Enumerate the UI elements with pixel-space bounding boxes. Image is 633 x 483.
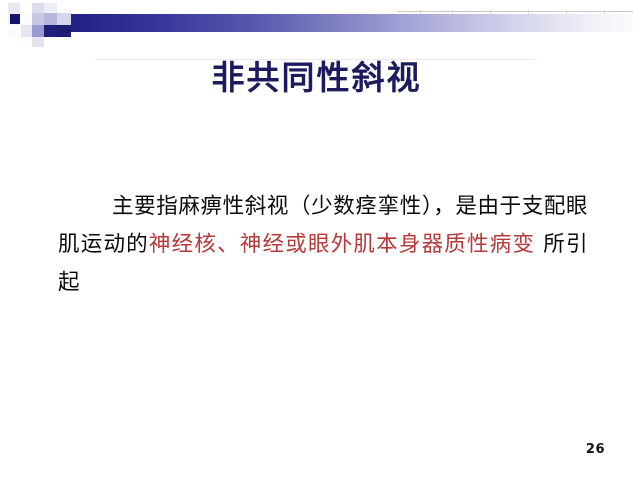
body-block: 主要指麻痹性斜视（少数痉挛性），是由于支配眼肌运动的神经核、神经或眼外肌本身器质… (58, 188, 588, 302)
mosaic-square (32, 3, 44, 13)
page-title: 非共同性斜视 (0, 55, 633, 101)
slide-canvas: 非共同性斜视 主要指麻痹性斜视（少数痉挛性），是由于支配眼肌运动的神经核、神经或… (0, 0, 633, 483)
mosaic-square (44, 25, 57, 37)
mosaic-square (44, 3, 57, 13)
mosaic-square (32, 37, 44, 47)
page-number: 26 (586, 442, 605, 457)
header-gradient-bar (38, 14, 633, 32)
mosaic-square (10, 14, 20, 24)
decorative-mosaic (0, 0, 112, 50)
mosaic-square (21, 13, 32, 25)
mosaic-square (21, 37, 32, 47)
top-right-grid-artifact (397, 0, 633, 12)
mosaic-square (8, 25, 20, 38)
mosaic-square (44, 13, 57, 25)
mosaic-square (8, 3, 20, 13)
body-paragraph: 主要指麻痹性斜视（少数痉挛性），是由于支配眼肌运动的神经核、神经或眼外肌本身器质… (58, 188, 588, 302)
mosaic-square (32, 13, 44, 25)
title-block: 非共同性斜视 (0, 55, 633, 101)
mosaic-square (32, 25, 44, 37)
mosaic-square (21, 25, 32, 37)
paragraph-segment-red: 神经核、神经或眼外肌本身器质性病变 (149, 232, 535, 257)
mosaic-square (57, 25, 71, 37)
mosaic-square (57, 13, 71, 25)
